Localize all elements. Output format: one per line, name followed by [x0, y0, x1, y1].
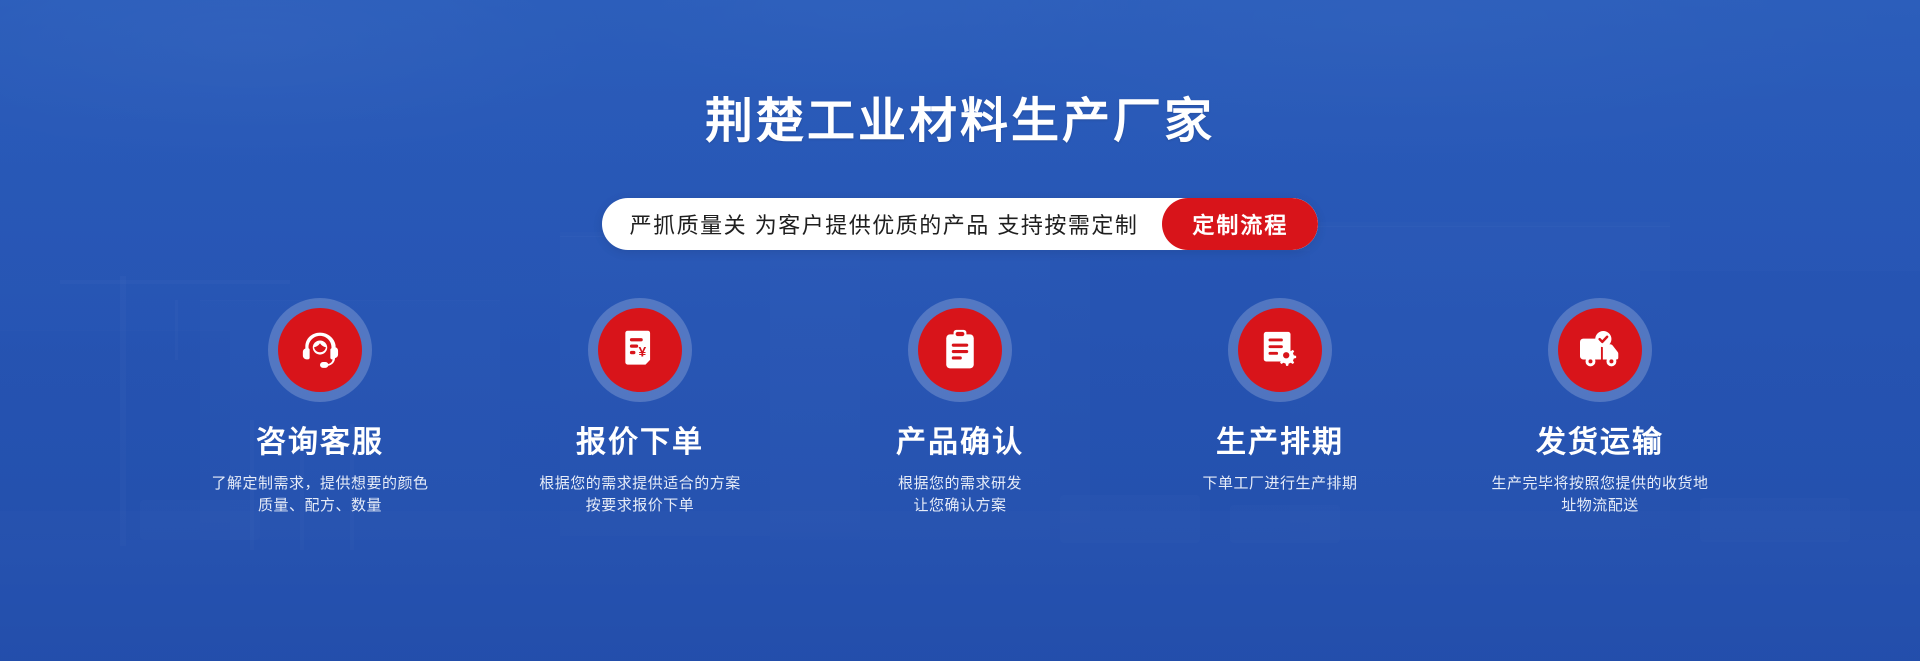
svg-text:¥: ¥: [638, 344, 646, 359]
icon-ring: [268, 298, 372, 402]
step-title: 报价下单: [576, 426, 704, 459]
step-description-line1: 了解定制需求，提供想要的颜色: [211, 473, 428, 495]
banner-content: 荆楚工业材料生产厂家 严抓质量关 为客户提供优质的产品 支持按需定制 定制流程: [0, 0, 1920, 661]
step-description: 生产完毕将按照您提供的收货地 址物流配送: [1491, 473, 1708, 517]
step-description-line2: 质量、配方、数量: [211, 495, 428, 517]
promo-banner: 荆楚工业材料生产厂家 严抓质量关 为客户提供优质的产品 支持按需定制 定制流程: [0, 0, 1920, 661]
step-description-line1: 生产完毕将按照您提供的收货地: [1491, 473, 1708, 495]
tagline-pill: 严抓质量关 为客户提供优质的产品 支持按需定制 定制流程: [602, 198, 1319, 250]
tagline-text: 严抓质量关 为客户提供优质的产品 支持按需定制: [602, 198, 1163, 250]
step-item-quote[interactable]: ¥ 报价下单 根据您的需求提供适合的方案 按要求报价下单: [510, 298, 770, 517]
step-item-shipping[interactable]: 发货运输 生产完毕将按照您提供的收货地 址物流配送: [1470, 298, 1730, 517]
icon-ring: [1228, 298, 1332, 402]
step-item-schedule[interactable]: 生产排期 下单工厂进行生产排期: [1150, 298, 1410, 517]
step-description-line1: 根据您的需求研发: [898, 473, 1022, 495]
page-title: 荆楚工业材料生产厂家: [0, 94, 1920, 149]
process-steps: 咨询客服 了解定制需求，提供想要的颜色 质量、配方、数量: [0, 298, 1920, 517]
step-title: 生产排期: [1216, 426, 1344, 459]
step-title: 发货运输: [1536, 426, 1664, 459]
document-gear-icon: [1259, 329, 1301, 371]
icon-circle: [1238, 308, 1322, 392]
step-description: 下单工厂进行生产排期: [1202, 473, 1357, 495]
step-description: 根据您的需求提供适合的方案 按要求报价下单: [539, 473, 741, 517]
delivery-truck-check-icon: [1577, 330, 1623, 370]
icon-ring: [908, 298, 1012, 402]
step-description-line2: 址物流配送: [1491, 495, 1708, 517]
icon-ring: [1548, 298, 1652, 402]
step-item-consult[interactable]: 咨询客服 了解定制需求，提供想要的颜色 质量、配方、数量: [190, 298, 450, 517]
invoice-yuan-icon: ¥: [620, 328, 660, 372]
step-item-confirm[interactable]: 产品确认 根据您的需求研发 让您确认方案: [830, 298, 1090, 517]
step-description: 根据您的需求研发 让您确认方案: [898, 473, 1022, 517]
step-description-line1: 根据您的需求提供适合的方案: [539, 473, 741, 495]
headset-support-icon: [298, 328, 342, 372]
step-description-line2: 让您确认方案: [898, 495, 1022, 517]
step-description: 了解定制需求，提供想要的颜色 质量、配方、数量: [211, 473, 428, 517]
step-description-line2: 按要求报价下单: [539, 495, 741, 517]
step-title: 咨询客服: [256, 426, 384, 459]
icon-circle: [918, 308, 1002, 392]
icon-circle: ¥: [598, 308, 682, 392]
icon-circle: [278, 308, 362, 392]
step-description-line1: 下单工厂进行生产排期: [1202, 473, 1357, 495]
custom-process-button[interactable]: 定制流程: [1162, 198, 1318, 250]
step-title: 产品确认: [896, 426, 1024, 459]
clipboard-check-icon: [941, 328, 979, 372]
icon-ring: ¥: [588, 298, 692, 402]
subbar-container: 严抓质量关 为客户提供优质的产品 支持按需定制 定制流程: [0, 198, 1920, 250]
icon-circle: [1558, 308, 1642, 392]
